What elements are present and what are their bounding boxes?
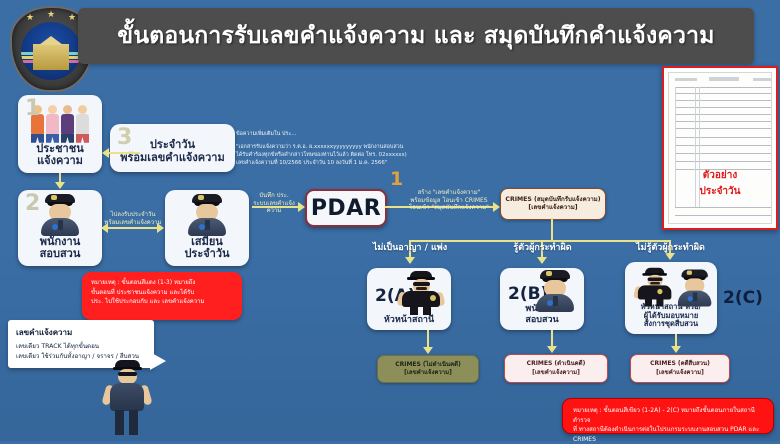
info-title: ข้อความเพิ่มเติมใน ประ... — [236, 130, 416, 138]
chief-and-officer-icons — [632, 261, 711, 303]
document-stamp-line-2: ประจำวัน — [669, 185, 771, 200]
crimes-investigation-line-1: CRIMES (คดีสืบสวน) — [650, 360, 710, 368]
crimes-no-case-box[interactable]: CRIMES (ไม่ดำเนินคดี) [เลขคำแจ้งความ] — [377, 355, 479, 383]
connector-2b-to-result — [551, 330, 553, 347]
pdar-label: PDAR — [311, 196, 381, 221]
callout-tail — [150, 352, 166, 370]
node-investigator-label: พนักงาน สอบสวน — [40, 236, 81, 266]
arrow-down-icon — [537, 257, 547, 264]
arrow-down-icon — [547, 346, 557, 353]
callout-line-1: เลขเดียว TRACK ได้ทุกขั้นตอน — [16, 342, 146, 352]
crimes-case-box[interactable]: CRIMES (ดำเนินคดี) [เลขคำแจ้งความ] — [504, 354, 608, 383]
node-chief-2a[interactable]: 2(A) หัวหน้าสถานี — [367, 268, 451, 330]
node-daily-clerk[interactable]: เสมียน ประจำวัน — [165, 190, 249, 266]
node-daily-record-number: 3 — [117, 127, 132, 149]
node-officer-2b[interactable]: 2(B) พนักงาน สอบสวน — [500, 268, 584, 330]
daily-record-info-text: ข้อความเพิ่มเติมใน ประ... "เอกสารรับแจ้ง… — [236, 130, 416, 167]
badge-2c: 2(C) — [723, 288, 763, 308]
arrow-right-icon — [493, 202, 500, 212]
node-daily-record-label: ประจำวัน พร้อมเลขคำแจ้งความ — [120, 131, 224, 164]
info-line-3: เลขคำแจ้งความที่ 10/2566 ประจำวัน 10 ลงว… — [236, 159, 416, 167]
node-citizen-label: ประชาชน แจ้งความ — [36, 143, 83, 173]
callout-title: เลขคำแจ้งความ — [16, 326, 146, 339]
connector-crimes-down — [551, 218, 553, 240]
diagram-canvas: ★ ★ ★ ขั้นตอนการรับเลขคำแจ้งความ และ สมุ… — [0, 0, 780, 441]
daily-record-sample-image[interactable]: ตัวอย่าง ประจำวัน — [662, 66, 778, 230]
document-page: ตัวอย่าง ประจำวัน — [668, 72, 772, 224]
crimes-case-line-1: CRIMES (ดำเนินคดี) — [527, 360, 586, 368]
node-citizen[interactable]: 1 ประชาชน แจ้งความ — [18, 95, 102, 173]
crimes-top-line-2: [เลขคำแจ้งความ] — [528, 204, 577, 212]
note-red-left-line-1: หมายเหตุ : ขั้นตอนสีแดง (1-3) หมายถึง — [91, 278, 233, 288]
emblem-star-icon: ★ — [68, 14, 76, 23]
police-clerk-icon — [185, 194, 229, 236]
node-daily-record[interactable]: 3 ประจำวัน พร้อมเลขคำแจ้งความ — [110, 124, 235, 172]
edge-label-branch-a: ไม่เป็นอาญา / แพ่ง — [360, 243, 460, 254]
pdar-step-number: 1 — [390, 168, 403, 190]
crimes-no-case-line-1: CRIMES (ไม่ดำเนินคดี) — [395, 361, 461, 369]
police-chief-icon — [398, 271, 444, 315]
edge-label-branch-b: รู้ตัวผู้กระทำผิด — [495, 243, 590, 254]
note-red-left-line-3: ประ. ไปใช้ประกอบกับ และ เลขคำแจ้งความ — [91, 297, 233, 307]
node-chief-2a-label: หัวหน้าสถานี — [384, 315, 434, 330]
crimes-no-case-line-2: [เลขคำแจ้งความ] — [404, 369, 452, 377]
node-investigator[interactable]: 2 พนักงาน สอบสวน — [18, 190, 102, 266]
document-stamp-line-1: ตัวอย่าง — [669, 169, 771, 184]
police-officer-icon — [533, 270, 577, 304]
note-red-right-line-1: หมายเหตุ : ขั้นตอนสีเขียว (1-2A) - 2(C) … — [573, 406, 763, 425]
node-chief-2c-label: หัวหน้าสถานี หรือ/ ผู้ได้รับมอบหมาย สั่ง… — [641, 303, 702, 334]
police-officer-mascot-icon — [104, 360, 150, 438]
connector-daily-to-citizen — [108, 152, 140, 154]
page-title: ขั้นตอนการรับเลขคำแจ้งความ และ สมุดบันทึ… — [78, 8, 754, 64]
arrow-down-icon — [423, 347, 433, 354]
crimes-record-book-box[interactable]: CRIMES (สมุดบันทึกรับแจ้งความ) [เลขคำแจ้… — [500, 188, 606, 220]
arrow-down-icon — [405, 257, 415, 264]
police-officer-icon — [38, 194, 82, 236]
note-red-left: หมายเหตุ : ขั้นตอนสีแดง (1-3) หมายถึง ขั… — [82, 272, 242, 320]
crimes-investigation-box[interactable]: CRIMES (คดีสืบสวน) [เลขคำแจ้งความ] — [630, 354, 730, 383]
info-line-2: ได้รับคำร้องทุกข์หรือคำกล่าวโทษของท่านไว… — [236, 151, 416, 159]
edge-label-clerk-to-pdar: บันทึก ประ. ระบบเลขคำแจ้งความ — [248, 192, 300, 215]
edge-label-pdar-to-crimes: สร้าง "เลขคำแจ้งความ" พร้อมข้อมูล โอนเข้… — [404, 189, 494, 212]
note-red-right-line-2: ที่ ทางสถานีต้องดำเนินการต่อในโปรแกรมระบ… — [573, 425, 763, 444]
edge-label-branch-c: ไม่รู้ตัวผู้กระทำผิด — [618, 243, 723, 254]
connector-2a-to-result — [427, 330, 429, 348]
arrow-left-icon — [102, 148, 109, 158]
crimes-investigation-line-2: [เลขคำแจ้งความ] — [656, 369, 704, 377]
edge-label-investigator-to-clerk: ไปลงรับประจำวัน พร้อมเลขคำแจ้งความ — [104, 211, 162, 226]
note-red-left-line-2: ขั้นตอนที่ ประชาชนแจ้งความ และได้รับ — [91, 288, 233, 298]
node-daily-clerk-label: เสมียน ประจำวัน — [184, 236, 229, 266]
emblem-crest — [21, 22, 81, 80]
note-red-right: หมายเหตุ : ขั้นตอนสีเขียว (1-2A) - 2(C) … — [562, 398, 774, 434]
arrow-down-icon — [671, 346, 681, 353]
crimes-case-line-2: [เลขคำแจ้งความ] — [532, 369, 580, 377]
emblem-star-icon: ★ — [26, 14, 34, 23]
pdar-system-box[interactable]: PDAR — [305, 189, 387, 227]
connector-crimes-fanout — [409, 240, 669, 242]
node-chief-2c[interactable]: หัวหน้าสถานี หรือ/ ผู้ได้รับมอบหมาย สั่ง… — [625, 262, 717, 334]
info-line-1: "เอกสารรับแจ้งความว่า ร.ต.อ. ผ.xxxxxxyyy… — [236, 143, 416, 151]
node-citizen-number: 1 — [25, 98, 40, 120]
arrow-down-icon — [55, 182, 65, 189]
connector-investigator-to-clerk — [106, 227, 158, 229]
crimes-top-line-1: CRIMES (สมุดบันทึกรับแจ้งความ) — [505, 196, 600, 204]
emblem-star-icon: ★ — [47, 11, 55, 20]
